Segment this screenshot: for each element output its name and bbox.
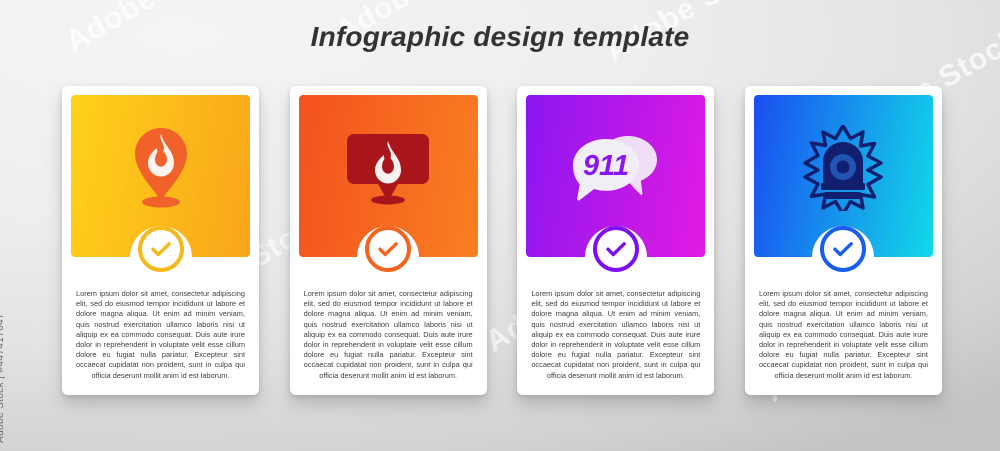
flasher-siren-icon [799,125,887,211]
911-speech-bubble-icon: 911 [570,130,662,206]
check-badge[interactable] [820,226,866,272]
page-title: Infographic design template [0,21,1000,53]
svg-text:911: 911 [583,150,629,182]
card-body-text: Lorem ipsum dolor sit amet, consectetur … [754,289,933,395]
infographic-card[interactable]: Lorem ipsum dolor sit amet, consectetur … [62,86,259,395]
check-icon [830,236,856,262]
check-badge[interactable] [365,226,411,272]
check-icon [603,236,629,262]
check-icon [375,236,401,262]
card-body-text: Lorem ipsum dolor sit amet, consectetur … [71,289,250,395]
infographic-card[interactable]: Lorem ipsum dolor sit amet, consectetur … [290,86,487,395]
fire-location-pin-icon [125,126,197,210]
check-badge[interactable] [593,226,639,272]
card-body-text: Lorem ipsum dolor sit amet, consectetur … [299,289,478,395]
check-badge[interactable] [138,226,184,272]
canvas: Adobe Stock Adobe Stock Adobe Stock Adob… [0,0,1000,451]
infographic-card[interactable]: 911 Lorem ipsum dolor sit amet, consecte… [517,86,714,395]
fire-speech-bubble-icon [346,128,430,208]
watermark-edge-label: Adobe Stock | #447417047 [0,313,6,443]
card-list: Lorem ipsum dolor sit amet, consectetur … [62,86,942,395]
card-body-text: Lorem ipsum dolor sit amet, consectetur … [526,289,705,395]
infographic-card[interactable]: Lorem ipsum dolor sit amet, consectetur … [745,86,942,395]
check-icon [148,236,174,262]
